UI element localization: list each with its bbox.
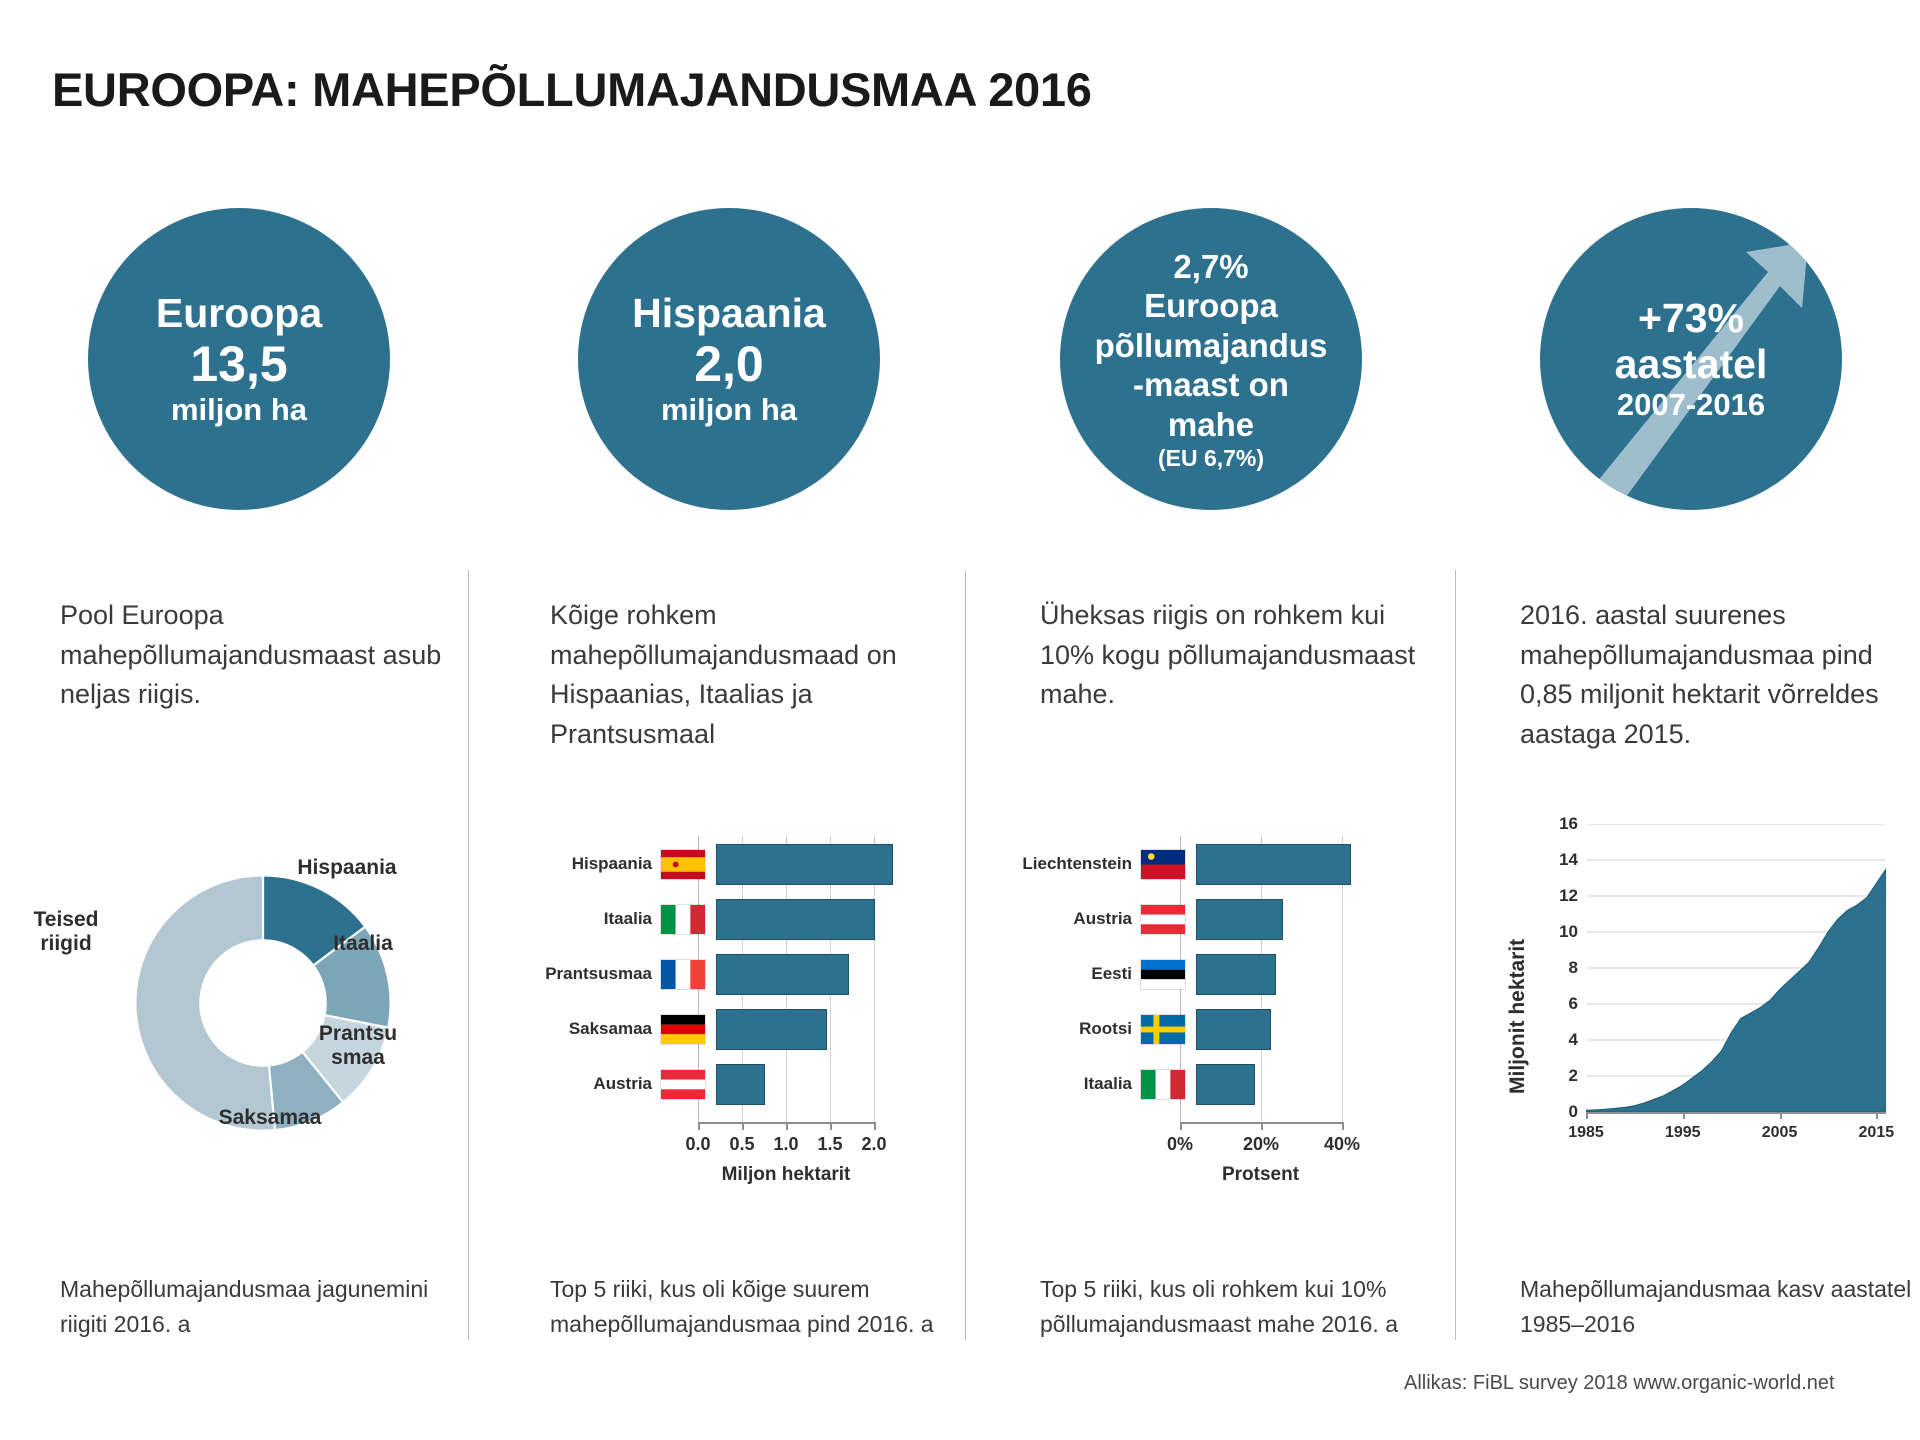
- spain-flag: [660, 849, 706, 880]
- circle4-line1: +73%: [1615, 295, 1768, 341]
- x-tick: [1261, 1122, 1263, 1130]
- liechtenstein-flag: [1140, 849, 1186, 880]
- column-divider-1: [468, 570, 469, 1340]
- x-tick: [1586, 1112, 1588, 1119]
- circle2-line1: Hispaania: [632, 290, 826, 336]
- x-axis-label: Miljon hektarit: [696, 1164, 876, 1186]
- circle3-line3: põllumajandus: [1095, 326, 1328, 366]
- caption-1: Mahepõllumajandusmaa jagunemini riigiti …: [60, 1272, 460, 1341]
- y-tick-label: 6: [1536, 994, 1578, 1014]
- bar-category-label: Saksamaa: [520, 1019, 660, 1039]
- bar-row: Itaalia: [520, 893, 875, 945]
- x-axis-line: [1586, 1112, 1886, 1114]
- caption-3: Top 5 riiki, kus oli rohkem kui 10% põll…: [1040, 1272, 1440, 1341]
- austria-flag: [660, 1069, 706, 1100]
- bar-row: Rootsi: [1000, 1003, 1271, 1055]
- lead-text-2: Kõige rohkem mahepõllumajandusmaad on Hi…: [550, 596, 940, 755]
- x-tick: [1780, 1112, 1782, 1119]
- y-tick-label: 8: [1536, 958, 1578, 978]
- x-tick-label: 20%: [1241, 1134, 1281, 1155]
- y-tick-label: 2: [1536, 1066, 1578, 1086]
- circle4-line2: aastatel: [1615, 341, 1768, 387]
- bar-fill: [716, 1009, 827, 1050]
- x-tick: [698, 1122, 700, 1130]
- x-tick: [830, 1122, 832, 1130]
- column-divider-2: [965, 570, 966, 1340]
- france-flag: [660, 959, 706, 990]
- bar-category-label: Eesti: [1000, 964, 1140, 984]
- lead-text-1: Pool Euroopa mahepõllumajandusmaast asub…: [60, 596, 450, 715]
- stat-circle-spain-total: Hispaania 2,0 miljon ha: [578, 208, 880, 510]
- italy-flag: [660, 904, 706, 935]
- x-tick: [786, 1122, 788, 1130]
- donut-label-spain: Hispaania: [282, 856, 412, 880]
- x-tick: [874, 1122, 876, 1130]
- bar-category-label: Hispaania: [520, 854, 660, 874]
- circle3-line6: (EU 6,7%): [1095, 445, 1328, 472]
- donut-chart-land-share: Hispaania Itaalia Prantsu smaa Saksamaa …: [60, 850, 460, 1160]
- stat-circle-growth: +73% aastatel 2007-2016: [1540, 208, 1842, 510]
- y-tick-label: 14: [1536, 850, 1578, 870]
- area-svg: [1586, 824, 1886, 1112]
- x-tick-label: 2005: [1752, 1124, 1808, 1142]
- bar-fill: [716, 954, 849, 995]
- x-tick-label: 1985: [1558, 1124, 1614, 1142]
- page-title: EUROOPA: MAHEPÕLLUMAJANDUSMAA 2016: [52, 62, 1092, 117]
- circle3-line2: Euroopa: [1095, 286, 1328, 326]
- x-tick-label: 0%: [1160, 1134, 1200, 1155]
- bar-row: Liechtenstein: [1000, 838, 1351, 890]
- x-tick-label: 2.0: [854, 1134, 894, 1155]
- austria-flag: [1140, 904, 1186, 935]
- circle1-line2: 13,5: [156, 337, 322, 392]
- donut-svg: [118, 858, 408, 1148]
- x-tick-label: 0.5: [722, 1134, 762, 1155]
- bar-row: Hispaania: [520, 838, 893, 890]
- lead-text-4: 2016. aastal suurenes mahepõllumajandusm…: [1520, 596, 1910, 755]
- bar-row: Austria: [520, 1058, 765, 1110]
- circle2-line3: miljon ha: [632, 392, 826, 428]
- circle4-line3: 2007-2016: [1615, 387, 1768, 423]
- stat-circle-europe-total: Euroopa 13,5 miljon ha: [88, 208, 390, 510]
- bar-category-label: Liechtenstein: [1000, 854, 1140, 874]
- y-tick-label: 0: [1536, 1102, 1578, 1122]
- caption-2: Top 5 riiki, kus oli kõige suurem mahepõ…: [550, 1272, 950, 1341]
- bar-category-label: Austria: [520, 1074, 660, 1094]
- bar-fill: [1196, 954, 1276, 995]
- x-axis-label: Protsent: [1178, 1164, 1343, 1186]
- bar-fill: [1196, 1009, 1271, 1050]
- caption-4: Mahepõllumajandusmaa kasv aastatel 1985–…: [1520, 1272, 1920, 1341]
- bar-chart-organic-share: LiechtensteinAustriaEestiRootsiItaalia 0…: [1000, 830, 1440, 1170]
- bar-row: Saksamaa: [520, 1003, 827, 1055]
- x-tick: [742, 1122, 744, 1130]
- x-tick-label: 1.5: [810, 1134, 850, 1155]
- area-chart-growth: Miljonit hektarit 0246810121416 19851995…: [1500, 818, 1900, 1168]
- y-tick-label: 16: [1536, 814, 1578, 834]
- bar-fill: [716, 844, 893, 885]
- circle3-line4: -maast on: [1095, 365, 1328, 405]
- bar-fill: [1196, 899, 1283, 940]
- x-tick-label: 1.0: [766, 1134, 806, 1155]
- donut-label-others: Teised riigid: [12, 908, 120, 956]
- x-tick: [1876, 1112, 1878, 1119]
- circle3-line5: mahe: [1095, 405, 1328, 445]
- x-tick-label: 40%: [1322, 1134, 1362, 1155]
- bar-row: Eesti: [1000, 948, 1276, 1000]
- donut-label-germany: Saksamaa: [200, 1106, 340, 1130]
- circle1-line3: miljon ha: [156, 392, 322, 428]
- bar-fill: [1196, 844, 1351, 885]
- y-axis-label: Miljonit hektarit: [1506, 939, 1530, 1094]
- sweden-flag: [1140, 1014, 1186, 1045]
- estonia-flag: [1140, 959, 1186, 990]
- bar-chart-organic-area: HispaaniaItaaliaPrantsusmaaSaksamaaAustr…: [520, 830, 960, 1170]
- bar-row: Prantsusmaa: [520, 948, 849, 1000]
- x-tick-label: 1995: [1655, 1124, 1711, 1142]
- bar-category-label: Itaalia: [1000, 1074, 1140, 1094]
- bar-fill: [1196, 1064, 1255, 1105]
- bar-row: Austria: [1000, 893, 1283, 945]
- donut-label-france: Prantsu smaa: [300, 1022, 416, 1070]
- source-note: Allikas: FiBL survey 2018 www.organic-wo…: [1404, 1372, 1835, 1395]
- circle2-line2: 2,0: [632, 337, 826, 392]
- italy-flag: [1140, 1069, 1186, 1100]
- bar-category-label: Prantsusmaa: [520, 964, 660, 984]
- bar-fill: [716, 1064, 765, 1105]
- donut-label-italy: Itaalia: [308, 932, 418, 956]
- y-tick-label: 10: [1536, 922, 1578, 942]
- bar-row: Itaalia: [1000, 1058, 1255, 1110]
- x-tick-label: 0.0: [678, 1134, 718, 1155]
- x-tick: [1342, 1122, 1344, 1130]
- bar-fill: [716, 899, 875, 940]
- x-tick-label: 2015: [1848, 1124, 1904, 1142]
- germany-flag: [660, 1014, 706, 1045]
- stat-circle-organic-share: 2,7% Euroopa põllumajandus -maast on mah…: [1060, 208, 1362, 510]
- column-divider-3: [1455, 570, 1456, 1340]
- y-tick-label: 4: [1536, 1030, 1578, 1050]
- infographic-page: EUROOPA: MAHEPÕLLUMAJANDUSMAA 2016 Euroo…: [0, 0, 1920, 1440]
- bar-category-label: Rootsi: [1000, 1019, 1140, 1039]
- x-tick: [1683, 1112, 1685, 1119]
- lead-text-3: Üheksas riigis on rohkem kui 10% kogu põ…: [1040, 596, 1430, 715]
- x-tick: [1180, 1122, 1182, 1130]
- bar-category-label: Itaalia: [520, 909, 660, 929]
- circle1-line1: Euroopa: [156, 290, 322, 336]
- circle3-line1: 2,7%: [1095, 247, 1328, 287]
- bar-category-label: Austria: [1000, 909, 1140, 929]
- y-tick-label: 12: [1536, 886, 1578, 906]
